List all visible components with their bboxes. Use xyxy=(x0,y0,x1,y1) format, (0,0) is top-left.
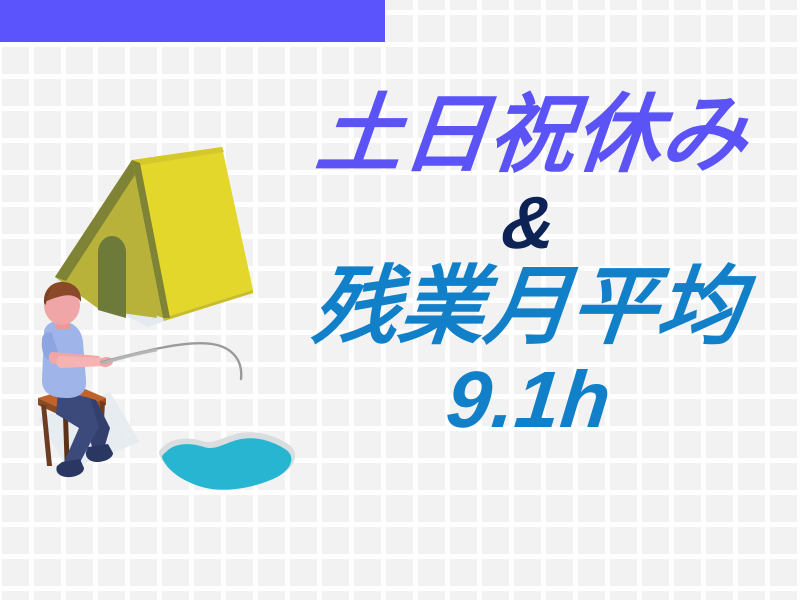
headline-block: 土日祝休み & 残業月平均 9.1h xyxy=(258,92,800,440)
headline-value: 9.1h xyxy=(254,360,800,440)
headline-line-1: 土日祝休み xyxy=(259,92,800,178)
headline-line-2: 残業月平均 xyxy=(251,264,800,350)
pond-water-icon xyxy=(159,432,295,490)
camping-tent-icon xyxy=(55,147,253,321)
fishing-rod-icon xyxy=(102,343,241,379)
headline-connector: & xyxy=(254,186,800,260)
poster-canvas: 土日祝休み & 残業月平均 9.1h xyxy=(0,0,800,600)
